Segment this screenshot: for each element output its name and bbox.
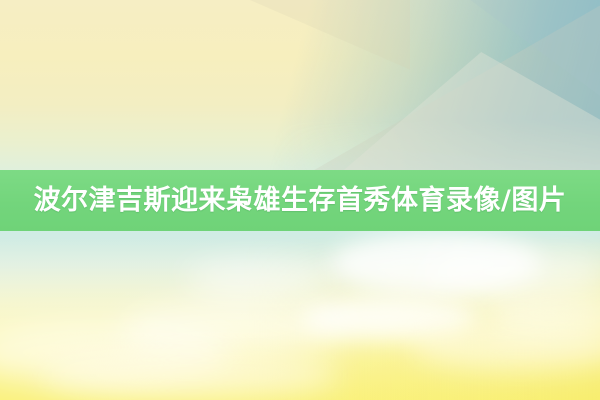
banner-title-text: 波尔津吉斯迎来枭雄生存首秀体育录像/图片 [34,187,567,214]
cloud-shape [420,246,600,298]
cloud-shape [185,260,335,298]
decorative-triangle-faint [250,0,410,120]
banner-image: 波尔津吉斯迎来枭雄生存首秀体育录像/图片 [0,0,600,400]
green-title-banner: 波尔津吉斯迎来枭雄生存首秀体育录像/图片 [0,170,600,231]
cloud-shape [40,352,340,398]
